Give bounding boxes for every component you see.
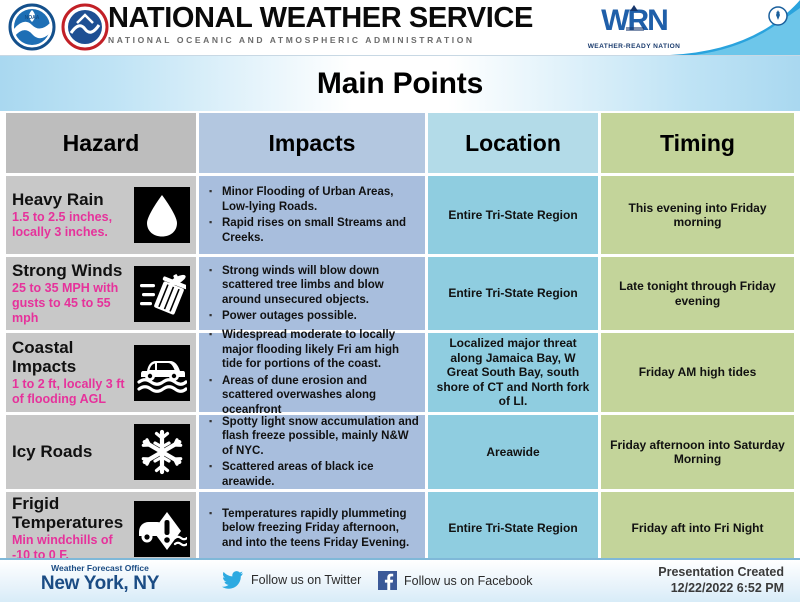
timing-text: Friday AM high tides: [639, 365, 757, 380]
twitter-bird-icon: [222, 571, 244, 589]
svg-text:NOAA: NOAA: [25, 15, 40, 21]
location-text: Areawide: [486, 445, 539, 460]
snowflake-icon: [134, 424, 190, 480]
rain-drop-icon: [134, 187, 190, 243]
agency-name-secondary: NATIONAL OCEANIC AND ATMOSPHERIC ADMINIS…: [108, 35, 533, 46]
timing-text: Friday aft into Fri Night: [632, 521, 764, 536]
impacts-cell: Temperatures rapidly plummeting below fr…: [199, 492, 425, 565]
location-cell: Entire Tri-State Region: [428, 176, 598, 254]
timing-text: Late tonight through Friday evening: [607, 279, 788, 308]
hazard-cell: Icy Roads: [6, 415, 196, 489]
timing-cell: This evening into Friday morning: [601, 176, 794, 254]
noaa-seal-icon: NOAA: [8, 3, 56, 51]
impacts-cell: Minor Flooding of Urban Areas, Low-lying…: [199, 176, 425, 254]
location-cell: Areawide: [428, 415, 598, 489]
hazard-name: Heavy Rain: [12, 190, 130, 209]
twitter-link[interactable]: Follow us on Twitter: [222, 571, 361, 589]
page-title: Main Points: [317, 67, 483, 101]
nws-seal-icon: [61, 3, 109, 51]
facebook-label: Follow us on Facebook: [404, 574, 533, 588]
hazard-name: Coastal Impacts: [12, 338, 130, 376]
created-label: Presentation Created: [658, 564, 784, 580]
impact-bullet: Spotty light snow accumulation and flash…: [207, 415, 419, 459]
hazard-name: Icy Roads: [12, 442, 130, 461]
created-timestamp: 12/22/2022 6:52 PM: [658, 580, 784, 596]
slide-title-band: Main Points: [0, 56, 800, 113]
slide-footer: Weather Forecast Office New York, NY Fol…: [0, 558, 800, 602]
location-text: Entire Tri-State Region: [448, 521, 577, 536]
timing-text: Friday afternoon into Saturday Morning: [607, 438, 788, 467]
wind-blown-trash-can-icon: [134, 266, 190, 322]
timing-cell: Friday afternoon into Saturday Morning: [601, 415, 794, 489]
facebook-f-icon: [378, 571, 397, 590]
impact-bullet: Areas of dune erosion and scattered over…: [207, 374, 419, 418]
impact-bullet: Rapid rises on small Streams and Creeks.: [207, 216, 419, 245]
hazard-detail: 25 to 35 MPH with gusts to 45 to 55 mph: [12, 281, 130, 326]
impact-bullet: Scattered areas of black ice areawide.: [207, 460, 419, 489]
impact-bullet: Minor Flooding of Urban Areas, Low-lying…: [207, 185, 419, 214]
main-points-table: Hazard Impacts Location Timing Heavy Rai…: [6, 113, 794, 565]
table-row: Icy Roads: [6, 415, 794, 489]
column-header-location: Location: [428, 113, 598, 173]
twitter-label: Follow us on Twitter: [251, 573, 361, 587]
location-text: Entire Tri-State Region: [448, 208, 577, 223]
impact-bullet: Widespread moderate to locally major flo…: [207, 328, 419, 372]
timing-cell: Friday aft into Fri Night: [601, 492, 794, 565]
hazard-cell: Heavy Rain 1.5 to 2.5 inches, locally 3 …: [6, 176, 196, 254]
hazard-cell: Frigid Temperatures Min windchills of -1…: [6, 492, 196, 565]
impacts-cell: Widespread moderate to locally major flo…: [199, 333, 425, 412]
office-city: New York, NY: [24, 573, 176, 595]
nws-header-banner: NOAA NATIONAL WEATHER SERVICE NATIONAL O…: [0, 0, 800, 56]
flooded-car-icon: [134, 345, 190, 401]
hazard-cell: Coastal Impacts 1 to 2 ft, locally 3 ft …: [6, 333, 196, 412]
impact-bullet: Power outages possible.: [207, 309, 419, 324]
agency-wordmark: NATIONAL WEATHER SERVICE NATIONAL OCEANI…: [108, 2, 533, 46]
hazard-name: Frigid Temperatures: [12, 494, 130, 532]
hazard-cell: Strong Winds 25 to 35 MPH with gusts to …: [6, 257, 196, 330]
impact-bullet: Temperatures rapidly plummeting below fr…: [207, 507, 419, 551]
facebook-link[interactable]: Follow us on Facebook: [378, 571, 533, 590]
timing-text: This evening into Friday morning: [607, 201, 788, 230]
column-header-timing: Timing: [601, 113, 794, 173]
impacts-cell: Spotty light snow accumulation and flash…: [199, 415, 425, 489]
office-label: Weather Forecast Office: [24, 563, 176, 573]
location-text: Localized major threat along Jamaica Bay…: [434, 336, 592, 409]
vehicle-warning-icon: [134, 501, 190, 557]
table-row: Heavy Rain 1.5 to 2.5 inches, locally 3 …: [6, 176, 794, 254]
location-cell: Entire Tri-State Region: [428, 257, 598, 330]
location-cell: Localized major threat along Jamaica Bay…: [428, 333, 598, 412]
table-row: Strong Winds 25 to 35 MPH with gusts to …: [6, 257, 794, 330]
timing-cell: Late tonight through Friday evening: [601, 257, 794, 330]
header-logos: NOAA: [8, 3, 109, 51]
location-cell: Entire Tri-State Region: [428, 492, 598, 565]
impact-bullet: Strong winds will blow down scattered tr…: [207, 264, 419, 308]
table-header-row: Hazard Impacts Location Timing: [6, 113, 794, 173]
slide: NOAA NATIONAL WEATHER SERVICE NATIONAL O…: [0, 0, 800, 602]
location-text: Entire Tri-State Region: [448, 286, 577, 301]
timing-cell: Friday AM high tides: [601, 333, 794, 412]
department-of-commerce-seal-icon: [768, 6, 788, 26]
table-row: Frigid Temperatures Min windchills of -1…: [6, 492, 794, 565]
column-header-hazard: Hazard: [6, 113, 196, 173]
table-row: Coastal Impacts 1 to 2 ft, locally 3 ft …: [6, 333, 794, 412]
agency-name-primary: NATIONAL WEATHER SERVICE: [108, 2, 533, 34]
hazard-detail: 1.5 to 2.5 inches, locally 3 inches.: [12, 210, 130, 240]
hazard-detail: 1 to 2 ft, locally 3 ft of flooding AGL: [12, 377, 130, 407]
weather-forecast-office-block: Weather Forecast Office New York, NY: [24, 563, 176, 595]
presentation-created-block: Presentation Created 12/22/2022 6:52 PM: [658, 564, 784, 596]
impacts-cell: Strong winds will blow down scattered tr…: [199, 257, 425, 330]
column-header-impacts: Impacts: [199, 113, 425, 173]
hazard-name: Strong Winds: [12, 261, 130, 280]
